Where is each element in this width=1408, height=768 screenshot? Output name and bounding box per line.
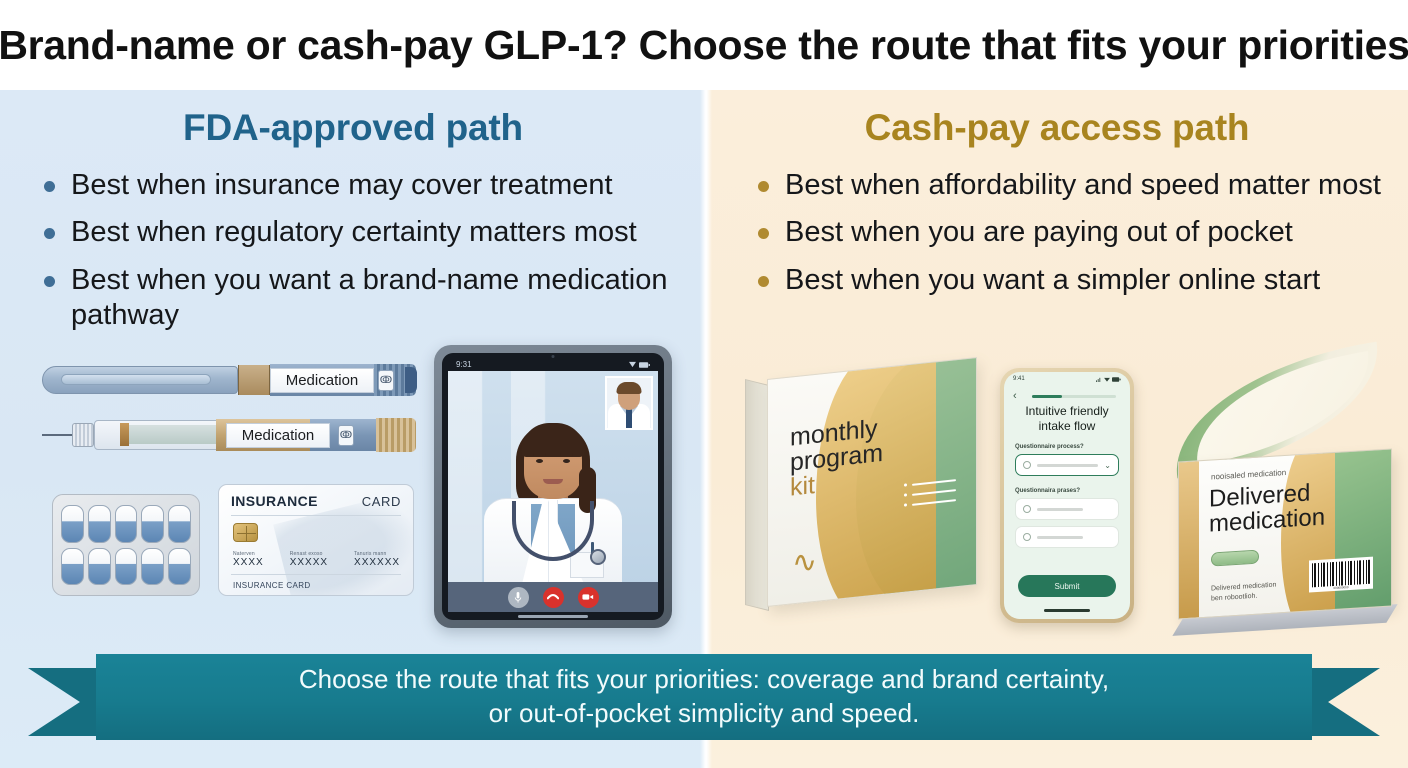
delivered-box-gold-swoosh xyxy=(1281,448,1335,619)
bullet-dot-icon xyxy=(44,276,55,287)
card-word-card: CARD xyxy=(362,494,401,509)
bullet-dot-icon xyxy=(758,276,769,287)
telehealth-tablet-illustration: 9:31 xyxy=(434,345,672,628)
question-label-1: Questionnaire process? xyxy=(1015,444,1084,450)
tablet-status-time: 9:31 xyxy=(456,360,472,369)
list-item: Best when regulatory certainty matters m… xyxy=(44,215,704,250)
right-panel-heading: Cash-pay access path xyxy=(706,107,1408,149)
title-bar: Brand-name or cash-pay GLP-1? Choose the… xyxy=(0,0,1408,90)
doctor-mouth xyxy=(543,479,563,484)
doctor-brow-left xyxy=(533,453,546,456)
injection-pen-capped-illustration: Medication ↂ xyxy=(42,363,414,397)
pen-dial-knurl xyxy=(376,418,416,452)
signal-icon xyxy=(1096,377,1102,382)
mute-microphone-icon[interactable] xyxy=(508,587,529,608)
right-bullet-list: Best when affordability and speed matter… xyxy=(758,168,1398,310)
doctor-brow-right xyxy=(560,453,573,456)
pill-capsule xyxy=(115,505,138,543)
card-field: Naterven XXXX xyxy=(233,551,264,568)
pill-capsule xyxy=(141,548,164,586)
field-placeholder-bar xyxy=(1037,464,1098,467)
doctor-eye-right xyxy=(563,459,570,463)
phone-status-icons xyxy=(1096,377,1121,382)
bullet-dot-icon xyxy=(44,228,55,239)
bullet-text: Best when regulatory certainty matters m… xyxy=(71,215,637,250)
kit-box-text: monthly program kit xyxy=(790,416,883,501)
left-panel-heading: FDA-approved path xyxy=(0,107,706,149)
bullet-dot-icon xyxy=(758,228,769,239)
intake-flow-phone-illustration: 9:41 ‹ Intuitive friendly intake flow Qu… xyxy=(1000,368,1134,623)
pen-midband xyxy=(238,365,270,395)
delivered-box-title: Delivered medication xyxy=(1209,480,1325,537)
card-divider-bottom xyxy=(231,574,401,575)
list-item: Best when you want a simpler online star… xyxy=(758,263,1398,298)
kit-checklist-row xyxy=(904,498,956,506)
delivered-box-face: nooisaled medication Delivered medicatio… xyxy=(1178,448,1392,619)
radio-icon[interactable] xyxy=(1023,505,1031,513)
progress-bar-track xyxy=(1032,395,1116,398)
picture-in-picture-participant[interactable] xyxy=(605,376,653,430)
bullet-dot-icon xyxy=(44,181,55,192)
delivered-box-eyebrow: nooisaled medication xyxy=(1211,468,1286,482)
doctor-eye-left xyxy=(536,459,543,463)
card-chip-icon xyxy=(233,523,258,542)
bottom-ribbon-banner: Choose the route that fits your prioriti… xyxy=(0,654,1408,750)
pen-clip xyxy=(61,374,211,385)
card-field-value: XXXXXX xyxy=(354,557,400,568)
submit-button[interactable]: Submit xyxy=(1018,575,1116,597)
pen-plunger xyxy=(120,423,129,446)
kit-brand-logo-icon: ∿ xyxy=(792,544,817,582)
bullet-text: Best when insurance may cover treatment xyxy=(71,168,613,203)
ribbon-line-2: or out-of-pocket simplicity and speed. xyxy=(299,697,1109,731)
question-label-2: Questionnaira prases? xyxy=(1015,488,1080,494)
card-field-value: XXXX xyxy=(233,557,264,568)
delivered-medication-box-illustration: nooisaled medication Delivered medicatio… xyxy=(1178,448,1392,619)
back-chevron-icon[interactable]: ‹ xyxy=(1013,390,1017,402)
card-field: Tanuris mann XXXXXX xyxy=(354,551,400,568)
battery-icon xyxy=(1112,377,1121,382)
doctor-avatar xyxy=(478,409,628,584)
tablet-home-indicator xyxy=(518,615,588,618)
pill-capsule xyxy=(88,505,111,543)
card-word-insurance: INSURANCE xyxy=(231,493,318,509)
barcode-bars xyxy=(1312,560,1370,588)
monthly-program-kit-illustration: monthly program kit ∿ xyxy=(745,368,977,618)
call-controls-bar xyxy=(448,582,658,612)
kit-box-front: monthly program kit ∿ xyxy=(767,357,977,607)
bullet-text: Best when you want a brand-name medicati… xyxy=(71,263,704,334)
page-title: Brand-name or cash-pay GLP-1? Choose the… xyxy=(0,22,1408,69)
kit-box-side xyxy=(745,379,769,611)
left-bullet-list: Best when insurance may cover treatment … xyxy=(44,168,704,346)
bullet-text: Best when affordability and speed matter… xyxy=(785,168,1381,203)
camera-icon[interactable] xyxy=(578,587,599,608)
list-item: Best when you want a brand-name medicati… xyxy=(44,263,704,334)
video-call-screen xyxy=(448,371,658,584)
pen-cap xyxy=(42,366,238,394)
tablet-bezel: 9:31 xyxy=(442,353,664,620)
pill-capsule xyxy=(141,505,164,543)
card-field: Renast exoso XXXXX xyxy=(290,551,328,568)
phone-screen: 9:41 ‹ Intuitive friendly intake flow Qu… xyxy=(1004,372,1130,619)
doctor-hair xyxy=(521,423,585,457)
injection-pen-open-illustration: Medication ↂ xyxy=(42,415,414,455)
phone-home-indicator xyxy=(1044,609,1090,612)
bullet-text: Best when you are paying out of pocket xyxy=(785,215,1293,250)
progress-bar-fill xyxy=(1032,395,1062,398)
pill-capsule xyxy=(61,505,84,543)
barcode-icon: 000000000 xyxy=(1309,557,1373,593)
card-header: INSURANCE CARD xyxy=(231,493,401,509)
card-divider xyxy=(231,515,401,516)
pen-dose-window: ↂ xyxy=(338,425,354,446)
pill-blister-pack-illustration xyxy=(52,494,200,596)
card-fields: Naterven XXXX Renast exoso XXXXX Tanuris… xyxy=(233,551,401,568)
list-item: Best when affordability and speed matter… xyxy=(758,168,1398,203)
tablet-status-icons xyxy=(629,361,650,368)
pill-capsule xyxy=(61,548,84,586)
pill-capsule xyxy=(88,548,111,586)
field-placeholder-bar xyxy=(1037,508,1083,511)
chevron-down-icon[interactable]: ⌄ xyxy=(1104,461,1111,470)
radio-icon[interactable] xyxy=(1023,533,1031,541)
list-item: Best when you are paying out of pocket xyxy=(758,215,1398,250)
phone-notch xyxy=(1043,372,1091,383)
questionnaire-option-1[interactable] xyxy=(1015,498,1119,520)
pill-capsule xyxy=(168,505,191,543)
card-field-value: XXXXX xyxy=(290,557,328,568)
kit-checklist-graphic xyxy=(904,478,956,513)
field-placeholder-bar xyxy=(1037,536,1083,539)
tablet-status-bar: 9:31 xyxy=(448,358,658,371)
questionnaire-option-2[interactable] xyxy=(1015,526,1119,548)
pen-dose-window: ↂ xyxy=(378,370,394,391)
wifi-icon xyxy=(629,361,636,368)
pill-capsule xyxy=(168,548,191,586)
list-item: Best when insurance may cover treatment xyxy=(44,168,704,203)
questionnaire-dropdown-1[interactable]: ⌄ xyxy=(1015,454,1119,476)
insurance-card-illustration: INSURANCE CARD Naterven XXXX Renast exos… xyxy=(218,484,414,596)
pen-endcap xyxy=(405,367,417,393)
ribbon-message: Choose the route that fits your prioriti… xyxy=(299,663,1109,731)
delivered-box-capsule-graphic xyxy=(1211,550,1259,567)
wifi-icon xyxy=(1104,377,1110,382)
infographic-canvas: Brand-name or cash-pay GLP-1? Choose the… xyxy=(0,0,1408,768)
delivered-box-gold-edge xyxy=(1179,461,1199,618)
bullet-dot-icon xyxy=(758,181,769,192)
bullet-text: Best when you want a simpler online star… xyxy=(785,263,1320,298)
pip-tie xyxy=(626,408,632,428)
phone-status-time: 9:41 xyxy=(1013,376,1025,382)
kit-checklist-row xyxy=(904,488,956,496)
pen-medication-label: Medication xyxy=(226,423,330,448)
card-footer-label: INSURANCE CARD xyxy=(233,581,311,590)
radio-icon[interactable] xyxy=(1023,461,1031,469)
stethoscope-bell-icon xyxy=(590,549,606,565)
pen-needle-hub xyxy=(72,423,94,447)
battery-icon xyxy=(639,362,650,368)
pen-medication-label: Medication xyxy=(270,368,374,393)
pill-capsule xyxy=(115,548,138,586)
intake-flow-title: Intuitive friendly intake flow xyxy=(1014,404,1120,433)
pip-hair xyxy=(617,382,642,394)
ribbon-line-1: Choose the route that fits your prioriti… xyxy=(299,663,1109,697)
ribbon-body: Choose the route that fits your prioriti… xyxy=(96,654,1312,740)
end-call-icon[interactable] xyxy=(543,587,564,608)
delivered-box-footer: Delivered medication ben robootlioh. xyxy=(1211,581,1276,605)
